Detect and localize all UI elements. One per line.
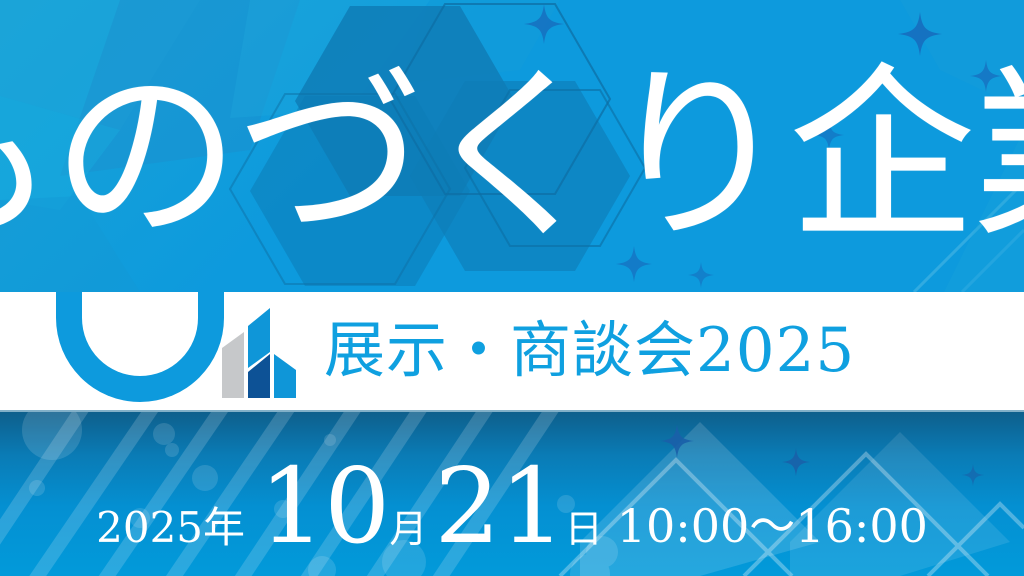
subtitle-band: 展示・商談会2025 [0, 292, 1024, 412]
page-title: ものづくり企業 [0, 0, 1024, 292]
date-band: 2025年10月21日10:00〜16:00 [0, 412, 1024, 576]
hero-background: ものづくり企業 [0, 0, 1024, 292]
event-poster: ものづくり企業 展示・商談会2025 [0, 0, 1024, 576]
event-time: 10:00〜16:00 [617, 499, 928, 553]
date-day-number: 21 [434, 445, 564, 567]
date-month-unit: 月 [389, 507, 427, 551]
date-day-unit: 日 [565, 507, 603, 551]
building-skyline-icon [222, 306, 304, 398]
sparkle-icon [660, 424, 694, 458]
date-month-number: 10 [259, 445, 389, 567]
event-date-line: 2025年10月21日10:00〜16:00 [0, 454, 1024, 558]
subtitle-text: 展示・商談会2025 [324, 320, 855, 381]
date-year: 2025年 [96, 503, 245, 552]
